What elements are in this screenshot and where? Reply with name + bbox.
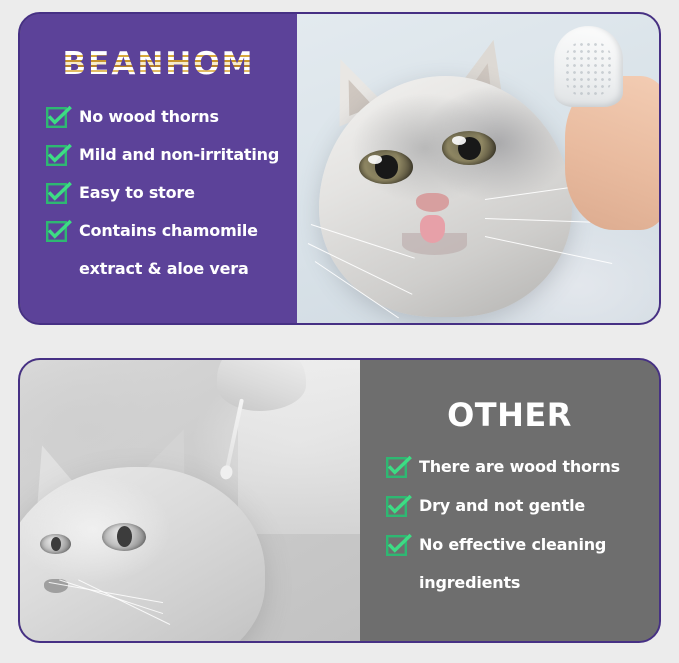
other-text-panel: OTHER There are wood thorns <box>360 360 659 641</box>
gray-cat-photo <box>20 360 360 641</box>
comparison-infographic: BEANHOM No wood thorns <box>0 0 679 663</box>
checkbox-checked-icon <box>46 107 67 128</box>
cat-head <box>20 467 265 641</box>
brand-text-panel: BEANHOM No wood thorns <box>20 14 297 323</box>
list-item: No effective cleaning ingredients <box>386 534 659 593</box>
other-heading: OTHER <box>360 396 659 434</box>
brand-comparison-card: BEANHOM No wood thorns <box>18 12 661 325</box>
brand-logo: BEANHOM <box>20 46 297 82</box>
kitten-eye-left <box>359 150 413 184</box>
other-comparison-card: OTHER There are wood thorns <box>18 358 661 643</box>
list-item: Contains chamomile extract & aloe vera <box>46 220 297 279</box>
other-photo-panel <box>20 360 360 641</box>
checkbox-checked-icon <box>386 496 407 517</box>
kitten-nose <box>416 193 449 212</box>
list-item: No wood thorns <box>46 106 297 128</box>
list-item: Dry and not gentle <box>386 495 659 517</box>
feature-label-line1: No effective cleaning <box>419 535 606 554</box>
cat-eye-near <box>102 523 146 551</box>
checkbox-checked-icon <box>46 221 67 242</box>
cat-eye-far <box>40 534 71 554</box>
checkbox-checked-icon <box>46 145 67 166</box>
feature-label: Dry and not gentle <box>419 495 585 516</box>
brand-photo-panel <box>297 14 659 323</box>
list-item: Mild and non-irritating <box>46 144 297 166</box>
gloved-hand <box>217 360 305 411</box>
feature-label-line2: extract & aloe vera <box>79 258 258 279</box>
feature-label: Easy to store <box>79 182 195 203</box>
feature-label: No effective cleaning ingredients <box>419 534 606 593</box>
checkbox-checked-icon <box>386 457 407 478</box>
finger-toothbrush <box>554 26 623 106</box>
list-item: Easy to store <box>46 182 297 204</box>
feature-label: Mild and non-irritating <box>79 144 279 165</box>
feature-label: There are wood thorns <box>419 456 620 477</box>
feature-label-line2: ingredients <box>419 572 606 593</box>
kitten-tongue <box>420 215 445 243</box>
checkbox-checked-icon <box>46 183 67 204</box>
kitten-photo <box>297 14 659 323</box>
feature-label-line1: Contains chamomile <box>79 221 258 240</box>
feature-label: No wood thorns <box>79 106 219 127</box>
other-feature-list: There are wood thorns Dry and not gentle <box>360 456 659 593</box>
feature-label: Contains chamomile extract & aloe vera <box>79 220 258 279</box>
brand-feature-list: No wood thorns Mild and non-irritating <box>20 106 297 279</box>
list-item: There are wood thorns <box>386 456 659 478</box>
checkbox-checked-icon <box>386 535 407 556</box>
